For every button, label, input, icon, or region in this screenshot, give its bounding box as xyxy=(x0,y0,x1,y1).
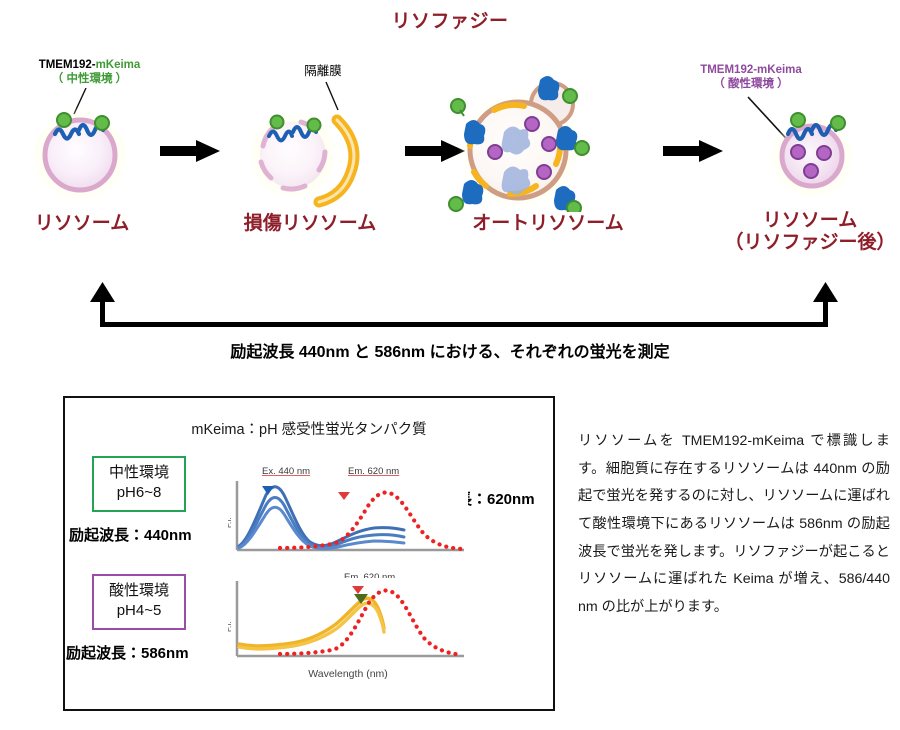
page-title: リソファジー xyxy=(0,6,900,33)
measurement-note: 励起波長 440nm と 586nm における、それぞれの蛍光を測定 xyxy=(0,338,900,362)
description-text: リソソームを TMEM192-mKeima で標識します。細胞質に存在するリソソ… xyxy=(578,428,890,622)
flow-arrow-3 xyxy=(663,138,725,164)
ph-box-neutral: 中性環境 pH6~8 xyxy=(92,456,186,512)
callout-neutral-gene: mKeima xyxy=(96,59,141,71)
stage-label-lysosome: リソソーム xyxy=(2,213,162,235)
neutral-chart-yaxis-label: F.I. xyxy=(228,517,233,528)
spectra-panel-title: mKeima：pH 感受性蛍光タンパク質 xyxy=(63,418,555,439)
ph-box-acidic-ph: pH4~5 xyxy=(100,601,178,621)
callout-acidic-tmem192: TMEM192-mKeima （ 酸性環境 ） xyxy=(660,63,842,92)
post-lysophagy-lysosome-illustration xyxy=(760,98,870,198)
stage-label-damaged: 損傷リソソーム xyxy=(215,213,405,235)
acidic-spectrum-chart: F.I. xyxy=(228,578,468,664)
chart-annotation-ex440: Ex. 440 nm xyxy=(262,466,310,477)
callout-neutral-tmem192: TMEM192-mKeima （ 中性環境 ） xyxy=(2,58,177,87)
neutral-spectrum-chart: F.I. xyxy=(228,478,468,558)
chart-xaxis-label: Wavelength (nm) xyxy=(228,668,468,680)
stage-label-autolysosome: オートリソソーム xyxy=(448,213,648,235)
ph-box-acidic-env: 酸性環境 xyxy=(100,581,178,601)
stage-label-post-lysophagy: リソソーム （リソファジー後） xyxy=(720,210,900,254)
callout-acidic-prefix: TMEM192-mKeima xyxy=(700,64,802,76)
excitation-label-neutral: 励起波長：440nm xyxy=(69,524,192,545)
flow-arrow-1 xyxy=(160,138,222,164)
ph-box-neutral-env: 中性環境 xyxy=(100,463,178,483)
callout-neutral-prefix: TMEM192- xyxy=(39,59,96,71)
chart-annotation-em620-top-text: Em. 620 nm xyxy=(348,466,399,477)
chart-annotation-em620-top: Em. 620 nm xyxy=(348,466,399,477)
stage-label-post-lysophagy-line2: （リソファジー後） xyxy=(720,232,900,254)
excitation-label-acidic: 励起波長：586nm xyxy=(66,642,189,663)
callout-isolation-membrane: 隔離膜 xyxy=(283,64,363,80)
chart-annotation-ex440-text: Ex. 440 nm xyxy=(262,466,310,477)
acidic-chart-yaxis-label: F.I. xyxy=(228,621,233,632)
stage-label-post-lysophagy-line1: リソソーム xyxy=(720,210,900,232)
callout-neutral-env: （ 中性環境 ） xyxy=(2,72,177,86)
lysosome-illustration xyxy=(22,98,142,206)
damaged-lysosome-illustration xyxy=(245,98,375,208)
callout-acidic-env: （ 酸性環境 ） xyxy=(660,77,842,91)
ph-box-neutral-ph: pH6~8 xyxy=(100,483,178,503)
ph-box-acidic: 酸性環境 pH4~5 xyxy=(92,574,186,630)
feedback-arrow xyxy=(70,282,870,332)
autolysosome-illustration xyxy=(448,72,598,212)
